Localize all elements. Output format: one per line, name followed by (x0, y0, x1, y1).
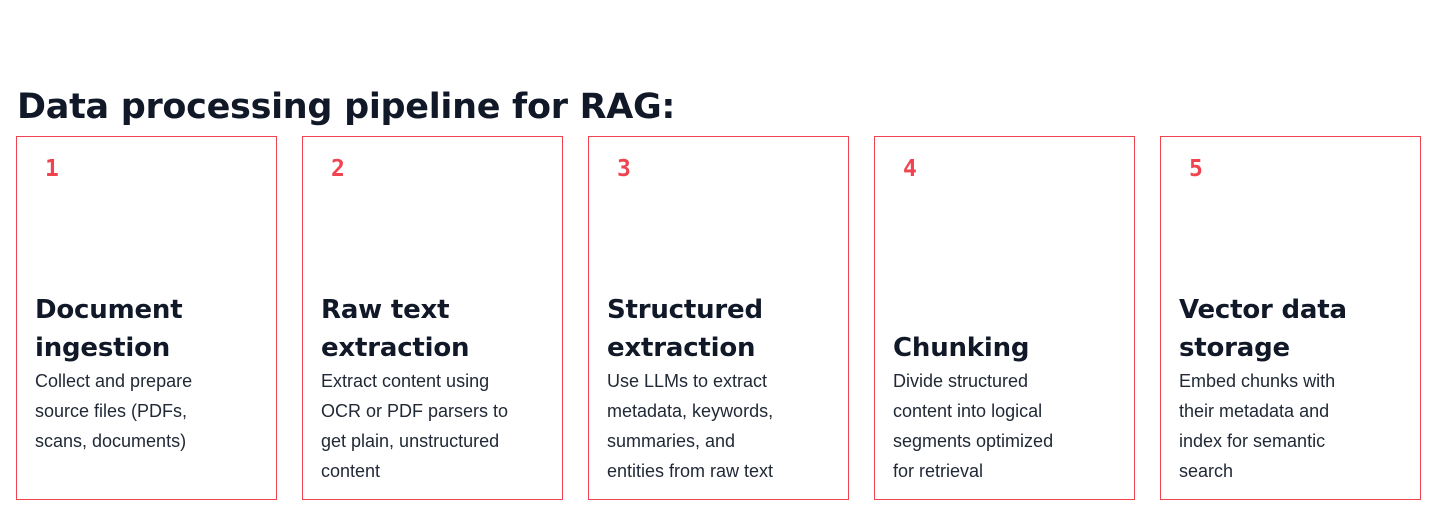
pipeline-step-card: 1 Document ingestion Collect and prepare… (16, 136, 277, 500)
step-description: Divide structured content into logical s… (893, 366, 1141, 486)
pipeline-step-card: 3 Structured extraction Use LLMs to extr… (588, 136, 849, 500)
step-number-badge: 1 (45, 158, 59, 181)
step-heading: Document ingestion (35, 291, 285, 367)
step-number-badge: 5 (1189, 158, 1203, 181)
step-description: Use LLMs to extract metadata, keywords, … (607, 366, 855, 486)
step-heading-container: Vector data storage (1179, 237, 1429, 367)
step-heading: Vector data storage (1179, 291, 1429, 367)
step-description: Collect and prepare source files (PDFs, … (35, 366, 283, 456)
pipeline-step-card: 2 Raw text extraction Extract content us… (302, 136, 563, 500)
step-heading: Chunking (893, 329, 1029, 367)
pipeline-infographic: Data processing pipeline for RAG: 1 Docu… (0, 0, 1440, 526)
page-title: Data processing pipeline for RAG: (17, 85, 675, 129)
step-number-badge: 4 (903, 158, 917, 181)
pipeline-card-list: 1 Document ingestion Collect and prepare… (16, 136, 1423, 500)
step-heading: Structured extraction (607, 291, 857, 367)
step-heading: Raw text extraction (321, 291, 571, 367)
step-number-badge: 2 (331, 158, 345, 181)
step-heading-container: Structured extraction (607, 237, 857, 367)
step-number-badge: 3 (617, 158, 631, 181)
pipeline-step-card: 4 Chunking Divide structured content int… (874, 136, 1135, 500)
step-heading-container: Raw text extraction (321, 237, 571, 367)
step-heading-container: Chunking (893, 237, 1143, 367)
step-description: Embed chunks with their metadata and ind… (1179, 366, 1427, 486)
pipeline-step-card: 5 Vector data storage Embed chunks with … (1160, 136, 1421, 500)
step-heading-container: Document ingestion (35, 237, 285, 367)
step-description: Extract content using OCR or PDF parsers… (321, 366, 569, 486)
